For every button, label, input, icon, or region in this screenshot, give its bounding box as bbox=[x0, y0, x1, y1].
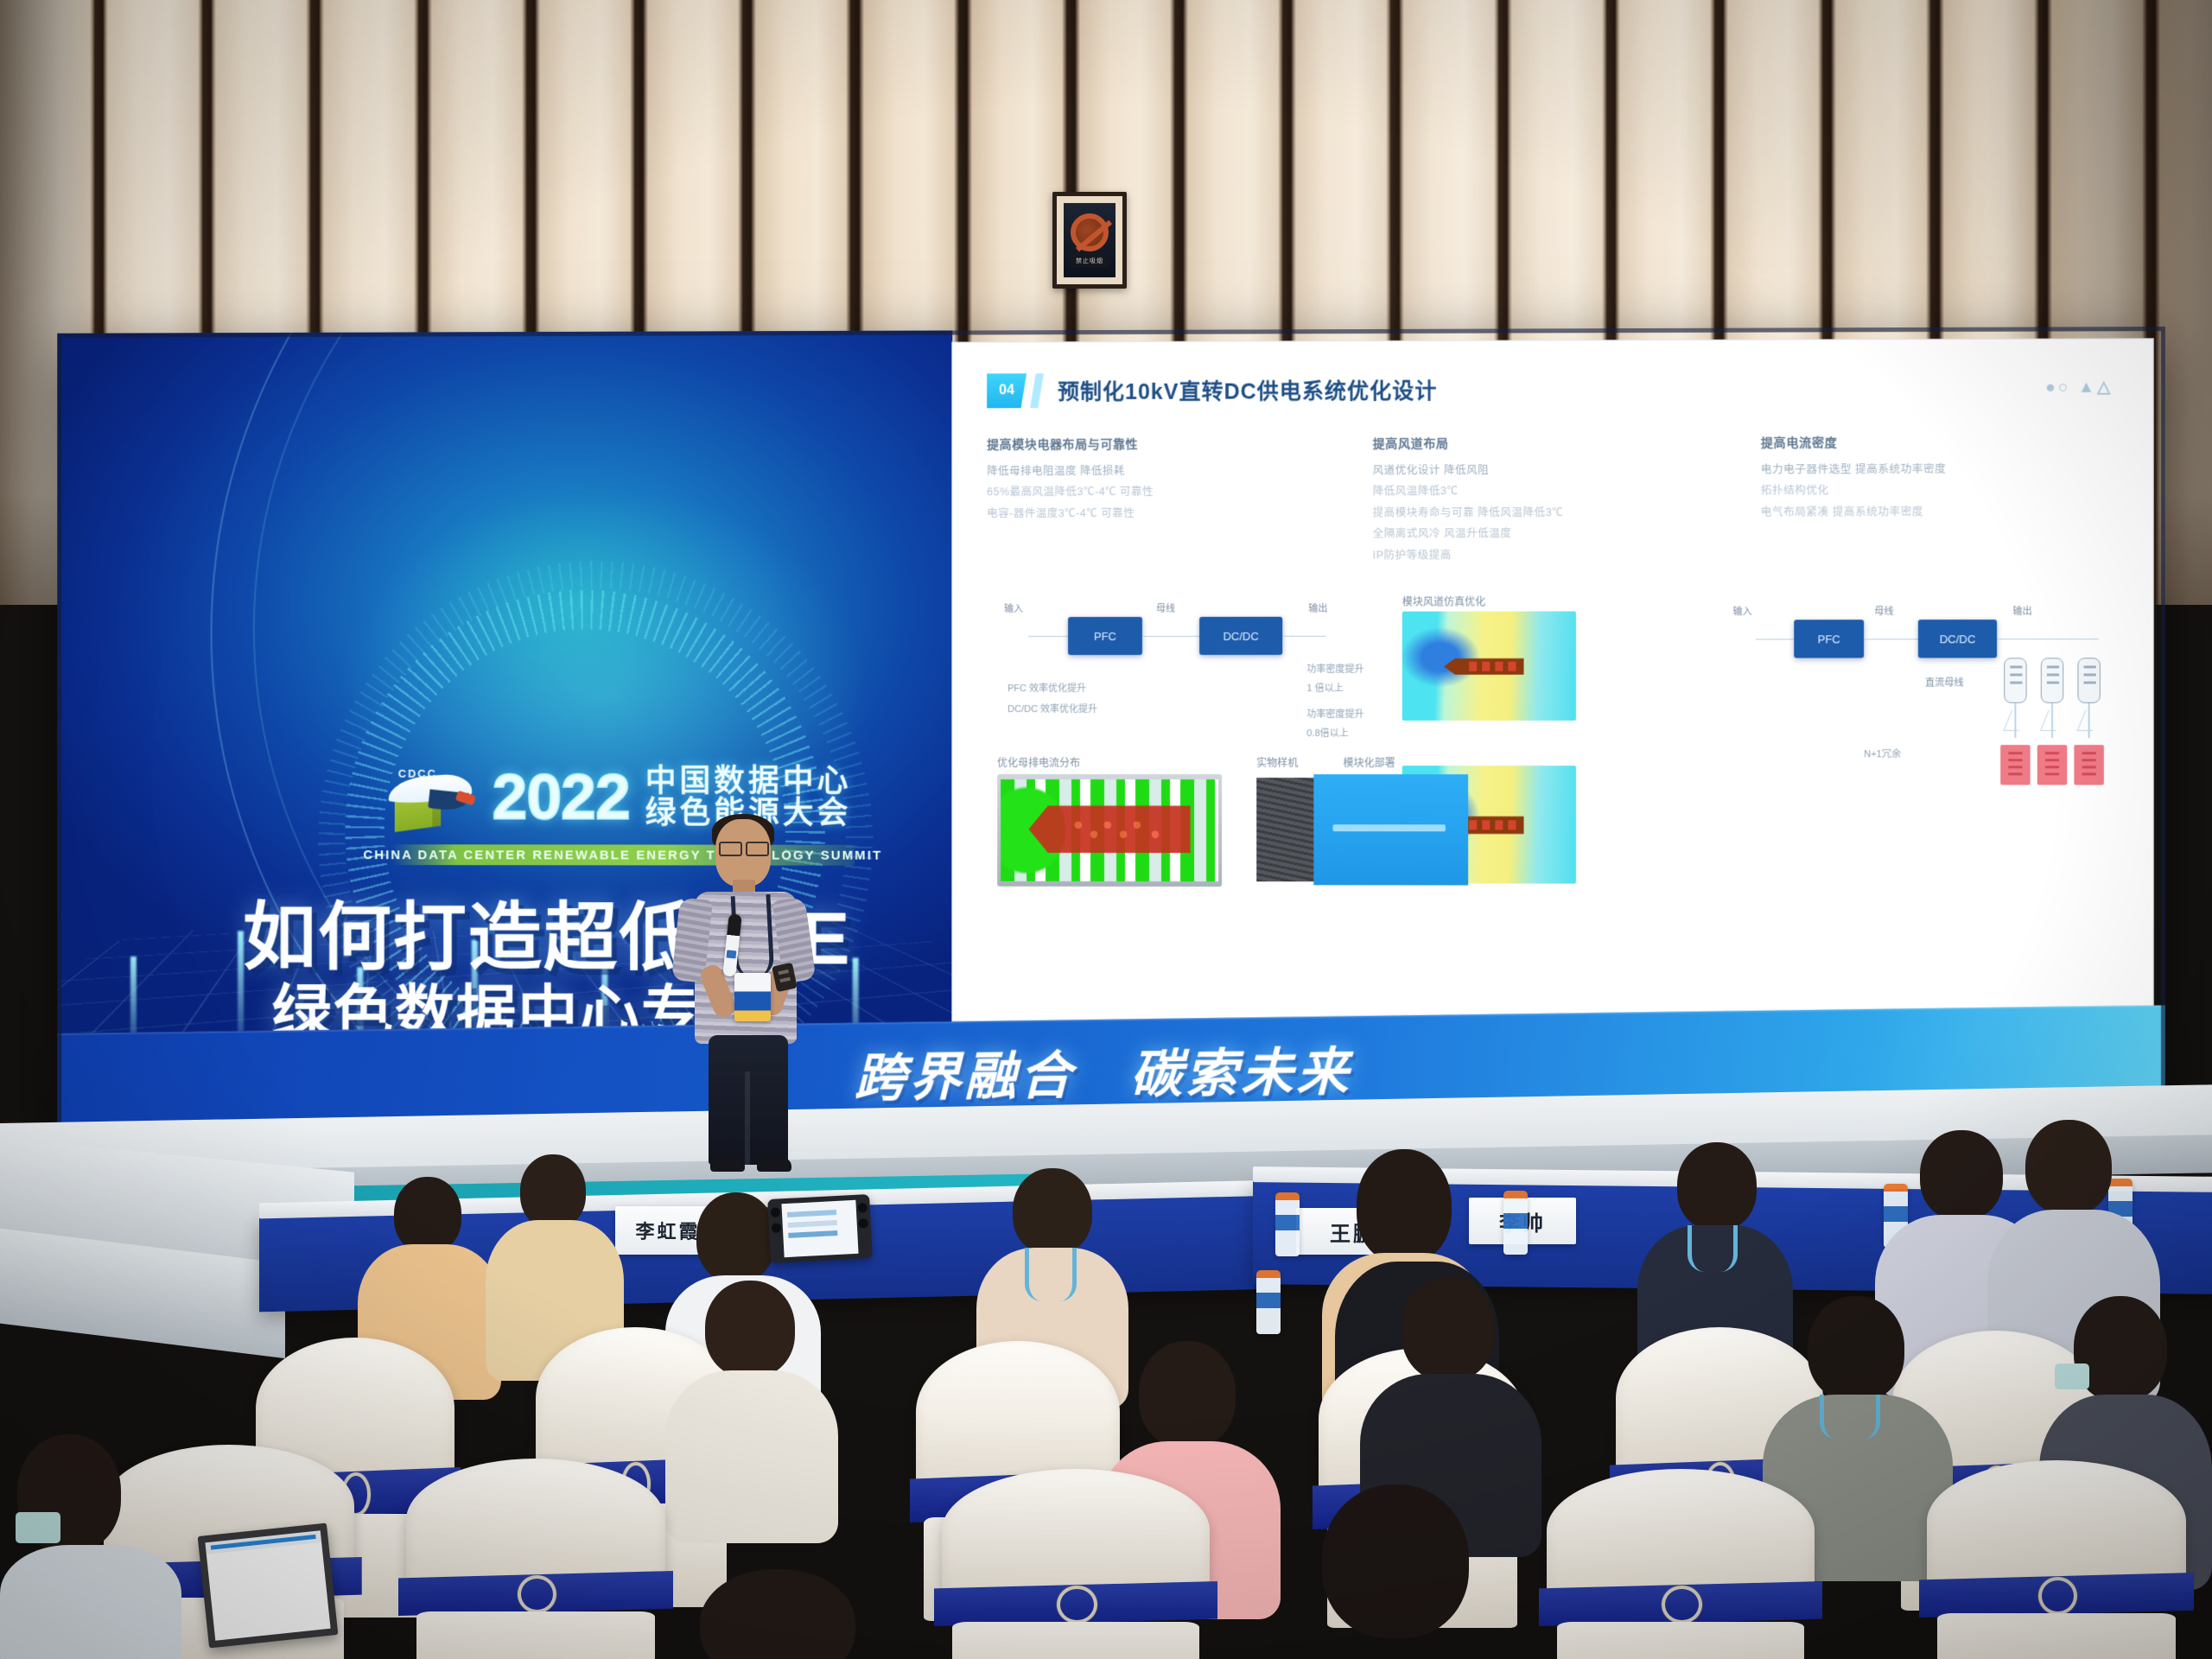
pcb-current-distribution-image bbox=[997, 774, 1222, 887]
slide-column-heading: 提高风道布局 bbox=[1373, 434, 1737, 452]
slide-column-line: 风道优化设计 降低风阻 bbox=[1373, 459, 1737, 480]
person-head bbox=[520, 1154, 586, 1229]
bus-line bbox=[1997, 639, 2099, 639]
block-dcdc: DC/DC bbox=[1918, 620, 1997, 658]
pcb-caption: 优化母排电流分布 bbox=[997, 755, 1080, 770]
rack-unit bbox=[2077, 658, 2100, 702]
person-head bbox=[394, 1177, 461, 1253]
chair-skirt bbox=[952, 1622, 1198, 1659]
person-head bbox=[1139, 1341, 1236, 1448]
person-torso bbox=[665, 1370, 838, 1543]
slide-columns: 提高模块电器布局与可靠性 降低母排电阻温度 降低损耗 65%最高风温降低3℃-4… bbox=[987, 433, 2126, 566]
block-dcdc: DC/DC bbox=[1199, 617, 1282, 655]
slide-column-line: 65%最高风温降低3℃-4℃ 可靠性 bbox=[987, 481, 1348, 503]
slide-column-heading: 提高模块电器布局与可靠性 bbox=[987, 435, 1348, 453]
laptop-screen bbox=[205, 1530, 330, 1640]
person-head bbox=[2025, 1120, 2112, 1215]
water-bottle bbox=[1275, 1192, 1300, 1256]
slide-column: 提高电流密度 电力电子器件选型 提高系统功率密度 拓扑结构优化 电气布局紧凑 提… bbox=[1761, 433, 2127, 565]
product-photo-blue bbox=[1313, 774, 1468, 885]
rack-load bbox=[2037, 745, 2068, 785]
rack-zigzag bbox=[2077, 710, 2101, 731]
person-head bbox=[1808, 1296, 1904, 1402]
block-connector bbox=[1864, 639, 1918, 639]
rack-zigzag bbox=[2040, 710, 2064, 731]
chair bbox=[1927, 1460, 2186, 1659]
speaker-shoe-left bbox=[710, 1158, 745, 1172]
rack-zigzag bbox=[2003, 710, 2027, 731]
block-connector bbox=[1756, 639, 1794, 639]
person-head bbox=[696, 1192, 776, 1282]
block-label-output: 输出 bbox=[2012, 604, 2031, 618]
audience-person-foreground bbox=[0, 1434, 181, 1659]
slide-column-line: 电气布局紧凑 提高系统功率密度 bbox=[1761, 501, 2127, 523]
block-label-input: 输入 bbox=[1004, 601, 1023, 615]
power-block-diagram-left: 输入 PFC 母线 DC/DC 输出 PFC 效率优化提升 DC/DC 效率优化… bbox=[1004, 601, 1402, 696]
no-smoking-sign: 禁止吸烟 bbox=[1052, 192, 1127, 289]
person-head bbox=[1402, 1277, 1495, 1381]
block-label-output: 输出 bbox=[1308, 601, 1327, 615]
slide-column-line: 提高模块寿命与可靠 降低风温降低3℃ bbox=[1373, 501, 1737, 523]
block-right-note: 1 倍以上 bbox=[1306, 681, 1343, 695]
block-label-mid: 母线 bbox=[1156, 601, 1175, 615]
chair bbox=[1547, 1469, 1815, 1659]
block-note: PFC 效率优化提升 bbox=[1007, 681, 1086, 695]
sign-label: 禁止吸烟 bbox=[1071, 255, 1109, 267]
chair-ring-buckle-icon bbox=[1662, 1586, 1702, 1624]
presentation-slide: 04 预制化10kV直转DC供电系统优化设计 ●○ ▲△ 提高模块电器布局与可靠… bbox=[952, 339, 2153, 1027]
person-head bbox=[1677, 1142, 1757, 1230]
rack-load bbox=[2074, 745, 2104, 785]
block-pfc: PFC bbox=[1794, 620, 1864, 658]
person-lanyard bbox=[1025, 1248, 1077, 1301]
person-lanyard bbox=[1688, 1225, 1738, 1272]
block-connector bbox=[1142, 636, 1199, 637]
slide-column-line: 降低风温降低3℃ bbox=[1373, 480, 1737, 502]
audience-person-foreground bbox=[665, 1569, 890, 1659]
water-bottle bbox=[1256, 1270, 1281, 1334]
person-lanyard bbox=[1820, 1395, 1880, 1440]
person-head bbox=[700, 1569, 855, 1659]
no-smoking-icon bbox=[1071, 213, 1109, 251]
cfd-caption-top: 模块风道仿真优化 bbox=[1402, 594, 1486, 609]
eyeglasses-icon bbox=[719, 842, 769, 853]
photo-caption-2: 模块化部署 bbox=[1343, 755, 1395, 770]
sign-inner: 禁止吸烟 bbox=[1064, 203, 1116, 277]
chair-skirt bbox=[416, 1611, 655, 1659]
banner-slogan-left: 跨界融合 bbox=[855, 1033, 1075, 1111]
conference-photo-scene: 禁止吸烟 bbox=[0, 0, 2212, 1659]
block-label-input: 输入 bbox=[1732, 604, 1751, 618]
event-name-cn-line1: 中国数据中心 bbox=[645, 766, 852, 798]
bus-label: 直流母线 bbox=[1925, 676, 1964, 690]
chair-ring-buckle-icon bbox=[518, 1575, 556, 1613]
cdcc-logo-icon: CDCC bbox=[381, 760, 477, 835]
cfd-thermal-image-top bbox=[1402, 611, 1576, 720]
event-year: 2022 bbox=[493, 769, 630, 826]
power-distribution-diagram-right: 输入 PFC 母线 DC/DC 输出 直流母线 bbox=[1732, 601, 2126, 861]
led-stage-screen: CDCC 2022 中国数据中心 绿色能源大会 CHINA DATA CENTE… bbox=[57, 327, 2165, 1141]
rack-unit bbox=[2004, 658, 2026, 702]
block-label-mid: 母线 bbox=[1874, 604, 1893, 618]
face-mask-icon bbox=[16, 1512, 60, 1543]
chair bbox=[942, 1469, 1210, 1659]
chair-skirt bbox=[1937, 1613, 2176, 1659]
audience-person bbox=[665, 1281, 838, 1540]
slide-badge-slash-icon bbox=[1030, 373, 1044, 408]
person-head bbox=[1013, 1168, 1092, 1255]
person-head bbox=[1322, 1484, 1469, 1638]
cdcc-mark-text: CDCC bbox=[398, 767, 437, 780]
slide-column-line: 全隔离式风冷 风温升低温度 bbox=[1373, 523, 1737, 544]
slide-column: 提高风道布局 风道优化设计 降低风阻 降低风温降低3℃ 提高模块寿命与可靠 降低… bbox=[1373, 434, 1737, 565]
face-mask-icon bbox=[2055, 1363, 2089, 1389]
block-connector bbox=[1282, 636, 1325, 637]
speaker-shoe-right bbox=[757, 1158, 791, 1172]
slide-column-line: 电力电子器件选型 提高系统功率密度 bbox=[1761, 458, 2127, 480]
block-note: DC/DC 效率优化提升 bbox=[1007, 702, 1097, 715]
slide-column: 提高模块电器布局与可靠性 降低母排电阻温度 降低损耗 65%最高风温降低3℃-4… bbox=[987, 435, 1348, 566]
block-connector bbox=[1028, 636, 1068, 637]
chair-ring-buckle-icon bbox=[1057, 1586, 1097, 1624]
slide-title: 预制化10kV直转DC供电系统优化设计 bbox=[1058, 374, 1437, 406]
rack-load bbox=[2000, 745, 2030, 785]
block-right-note: 功率密度提升 bbox=[1306, 707, 1363, 721]
slide-header: 04 预制化10kV直转DC供电系统优化设计 bbox=[987, 372, 1437, 408]
slide-column-line: IP防护等级提高 bbox=[1373, 543, 1737, 565]
speaker-badge bbox=[734, 973, 771, 1021]
phone-screen bbox=[781, 1200, 858, 1257]
smartphone-recording bbox=[767, 1194, 873, 1263]
slide-column-heading: 提高电流密度 bbox=[1761, 433, 2127, 451]
slide-section-number: 04 bbox=[987, 373, 1027, 408]
banner-slogan-right: 碳索未来 bbox=[1130, 1029, 1352, 1107]
laptop-device bbox=[198, 1523, 339, 1649]
slide-column-line: 电容-器件温度3℃-4℃ 可靠性 bbox=[987, 502, 1348, 524]
photo-caption-1: 实物样机 bbox=[1256, 755, 1298, 770]
slide-column-line: 降低母排电阻温度 降低损耗 bbox=[987, 460, 1348, 481]
chair-skirt bbox=[1557, 1622, 1803, 1659]
person-torso bbox=[0, 1545, 181, 1659]
phone-camera-icon bbox=[771, 1207, 781, 1217]
water-bottle bbox=[1503, 1191, 1528, 1255]
current-flow-arrow-icon bbox=[1028, 805, 1190, 853]
block-pfc: PFC bbox=[1068, 617, 1142, 655]
speaker-presenter bbox=[665, 812, 838, 1175]
block-right-note: 0.8倍以上 bbox=[1306, 726, 1348, 740]
person-head bbox=[705, 1281, 795, 1377]
slide-vendor-logo-icon: ●○ ▲△ bbox=[2045, 378, 2113, 397]
speaker-trousers bbox=[709, 1035, 788, 1165]
chair bbox=[406, 1459, 665, 1659]
block-right-note: 功率密度提升 bbox=[1306, 662, 1363, 676]
rack-unit bbox=[2041, 658, 2063, 702]
chair-ring-buckle-icon bbox=[2038, 1577, 2077, 1615]
phone-camera-icon bbox=[858, 1203, 868, 1213]
redundancy-note: N+1冗余 bbox=[1864, 747, 1901, 760]
slide-column-line: 拓扑结构优化 bbox=[1761, 480, 2127, 501]
airflow-arrow-icon bbox=[1444, 658, 1524, 675]
audience-person-foreground bbox=[1262, 1484, 1521, 1659]
product-photo-dark bbox=[1256, 778, 1319, 881]
